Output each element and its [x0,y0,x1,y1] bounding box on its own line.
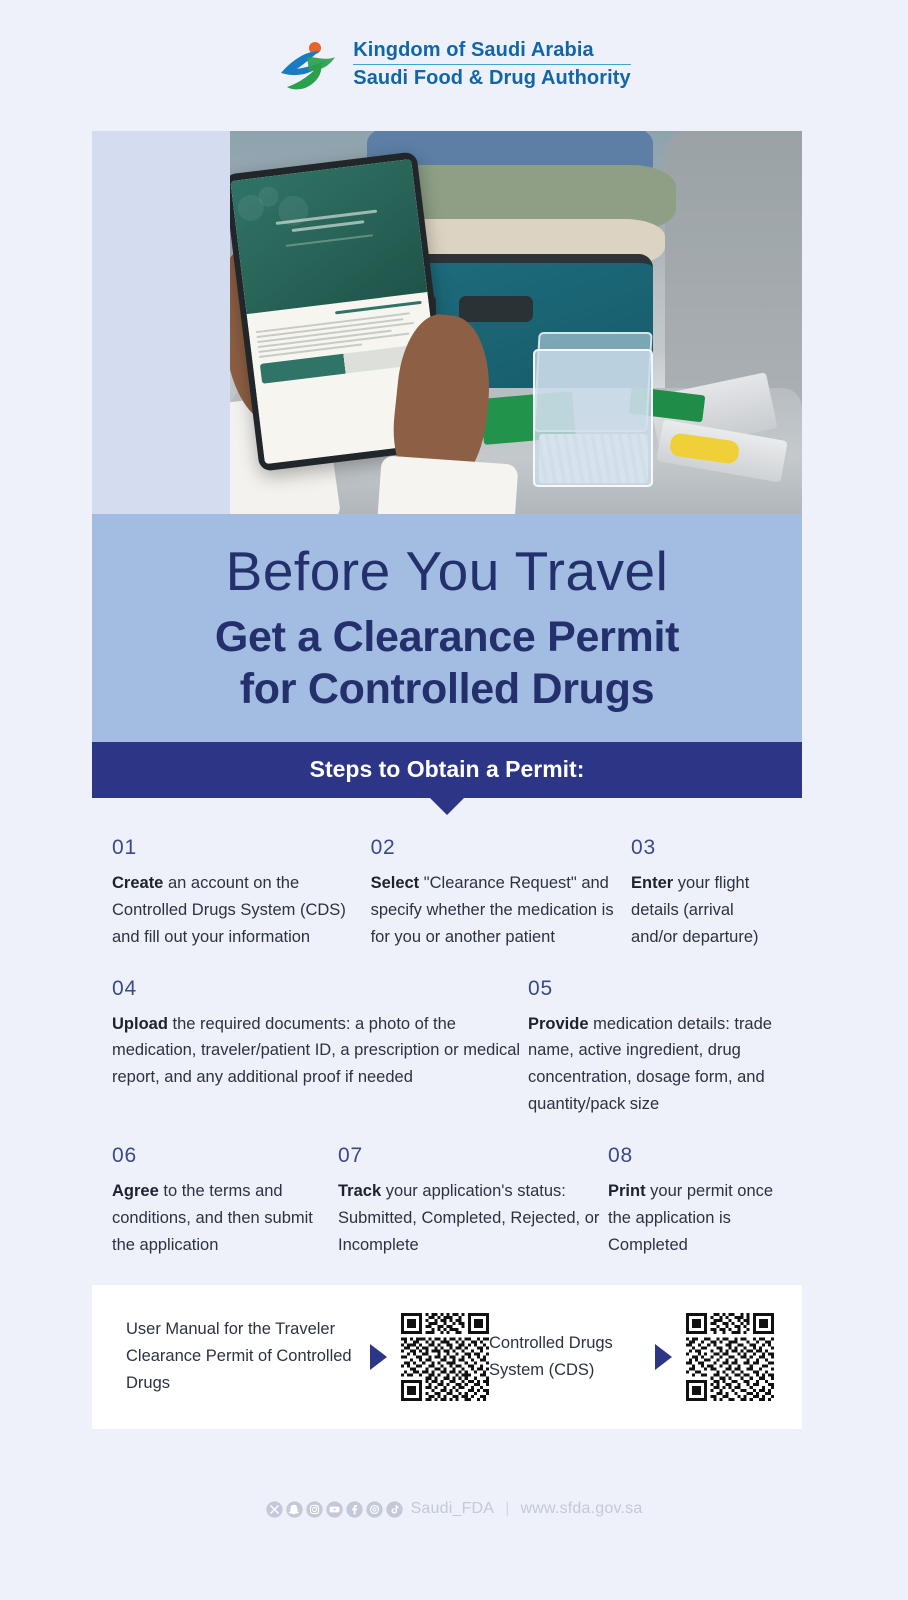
hero-image [92,131,802,514]
tiktok-icon[interactable] [386,1501,403,1518]
step-05: 05 Provide medication details: trade nam… [528,977,782,1119]
step-text: Agree to the terms and conditions, and t… [112,1178,338,1259]
snapchat-icon[interactable] [286,1501,303,1518]
facebook-icon[interactable] [346,1501,363,1518]
footer-separator: | [505,1500,509,1518]
step-number: 03 [631,836,782,860]
suitcase-lock [459,296,533,323]
qr-panel: User Manual for the Traveler Clearance P… [92,1285,802,1429]
title-eyebrow: Before You Travel [116,544,778,599]
step-01: 01 Create an account on the Controlled D… [112,836,371,951]
qr-item-cds: Controlled Drugs System (CDS) [489,1313,774,1401]
step-text: Provide medication details: trade name, … [528,1011,782,1119]
step-text: Print your permit once the application i… [608,1178,782,1259]
play-arrow-icon [655,1344,672,1370]
cds-portal-hero [231,159,428,314]
steps-row-2: 04 Upload the required documents: a phot… [112,977,782,1119]
instagram-icon[interactable] [306,1501,323,1518]
step-number: 06 [112,1144,338,1168]
threads-icon[interactable] [366,1501,383,1518]
title-main-line2: for Controlled Drugs [116,663,778,715]
steps-row-3: 06 Agree to the terms and conditions, an… [112,1144,782,1259]
step-number: 01 [112,836,371,860]
logo-line-kingdom: Kingdom of Saudi Arabia [353,39,631,65]
step-04: 04 Upload the required documents: a phot… [112,977,528,1119]
step-lead: Create [112,874,163,892]
hero-photo [230,131,802,514]
step-03: 03 Enter your flight details (arrival an… [631,836,782,951]
footer-handle: Saudi_FDA [411,1500,495,1518]
step-text: Select "Clearance Request" and specify w… [371,870,631,951]
step-08: 08 Print your permit once the applicatio… [608,1144,782,1259]
infographic-card: Before You Travel Get a Clearance Permit… [92,131,802,1429]
step-lead: Upload [112,1015,168,1033]
sfda-runner-logo-icon [277,37,341,93]
logo-text-block: Kingdom of Saudi Arabia Saudi Food & Dru… [353,39,631,90]
play-arrow-icon [370,1344,387,1370]
shirt-sleeve-right [376,456,518,514]
logo-line-authority: Saudi Food & Drug Authority [353,65,631,91]
steps-area: 01 Create an account on the Controlled D… [92,798,802,1259]
steps-row-1: 01 Create an account on the Controlled D… [112,836,782,951]
pill-organizer-box [533,349,653,487]
steps-bar: Steps to Obtain a Permit: [92,742,802,798]
step-lead: Print [608,1182,646,1200]
page-footer: Saudi_FDA | www.sfda.gov.sa [0,1500,908,1518]
x-twitter-icon[interactable] [266,1501,283,1518]
hero-left-panel [92,131,230,514]
step-lead: Track [338,1182,381,1200]
title-main-line1: Get a Clearance Permit [116,611,778,663]
social-links [266,1501,403,1518]
steps-bar-label: Steps to Obtain a Permit: [310,756,585,782]
qr-code-icon[interactable] [401,1313,489,1401]
step-lead: Enter [631,874,673,892]
step-lead: Select [371,874,420,892]
step-number: 08 [608,1144,782,1168]
couch-backrest [665,131,802,407]
step-number: 05 [528,977,782,1001]
footer-website[interactable]: www.sfda.gov.sa [521,1500,643,1518]
title-block: Before You Travel Get a Clearance Permit… [92,514,802,742]
step-07: 07 Track your application's status: Subm… [338,1144,608,1259]
title-main: Get a Clearance Permit for Controlled Dr… [116,611,778,716]
qr-item-user-manual: User Manual for the Traveler Clearance P… [126,1313,489,1401]
step-lead: Agree [112,1182,159,1200]
step-text: Track your application's status: Submitt… [338,1178,608,1259]
step-number: 07 [338,1144,608,1168]
down-arrow-icon [430,798,464,815]
step-02: 02 Select "Clearance Request" and specif… [371,836,631,951]
step-lead: Provide [528,1015,589,1033]
qr-code-icon[interactable] [686,1313,774,1401]
step-number: 04 [112,977,528,1001]
qr-label: Controlled Drugs System (CDS) [489,1330,639,1384]
step-text: Enter your flight details (arrival and/o… [631,870,782,951]
step-text: Create an account on the Controlled Drug… [112,870,371,951]
page-header: Kingdom of Saudi Arabia Saudi Food & Dru… [0,0,908,130]
step-06: 06 Agree to the terms and conditions, an… [112,1144,338,1259]
step-number: 02 [371,836,631,860]
youtube-icon[interactable] [326,1501,343,1518]
step-text: Upload the required documents: a photo o… [112,1011,528,1092]
step-body: the required documents: a photo of the m… [112,1015,520,1087]
qr-label: User Manual for the Traveler Clearance P… [126,1316,354,1398]
